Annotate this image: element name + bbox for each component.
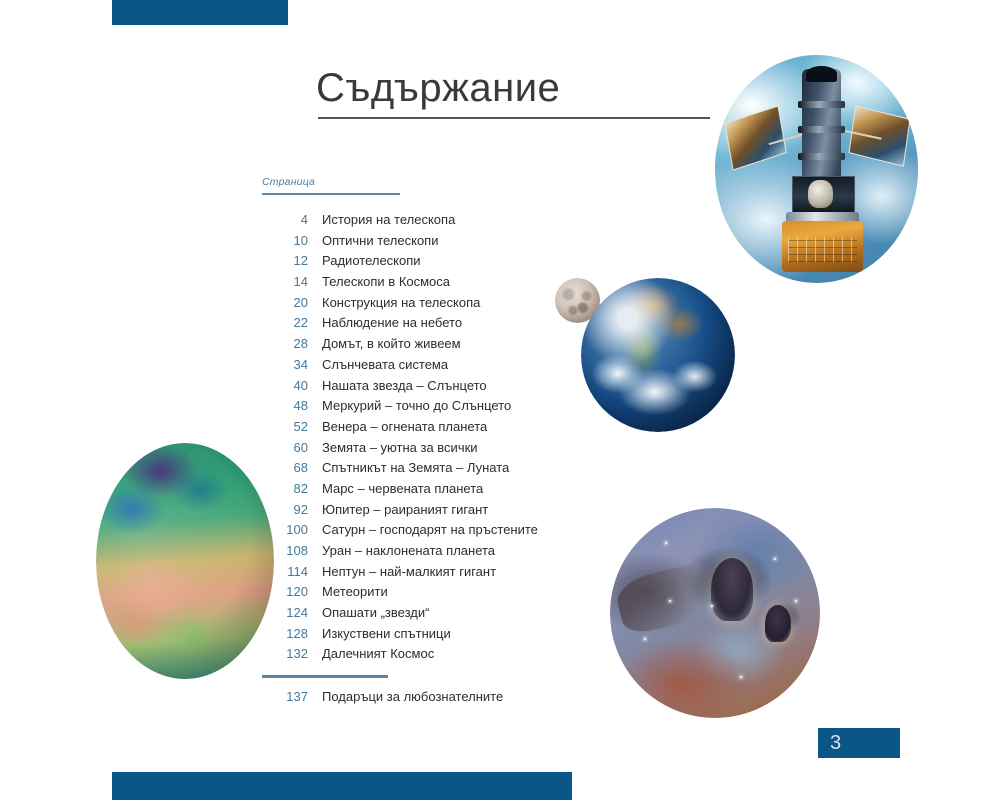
toc-entry-title: Телескопи в Космоса [322,274,450,289]
toc-entry-page: 108 [262,543,308,558]
toc-entry[interactable]: 28Домът, в който живеем [262,336,562,357]
toc-entry-title: Венера – огнената планета [322,419,487,434]
toc-entry-title: Нашата звезда – Слънцето [322,378,487,393]
title-underline-rule [318,117,710,119]
body-ring-1 [798,101,845,108]
page-column-underline [262,193,400,195]
contents-page: Съдържание Страница 4История на телескоп… [0,0,1000,800]
toc-entry-title: Земята – уютна за всички [322,440,478,455]
toc-entry-title: Уран – наклонената планета [322,543,495,558]
toc-entry[interactable]: 128Изкуствени спътници [262,626,562,647]
toc-entry-page: 10 [262,233,308,248]
toc-entry-page: 100 [262,522,308,537]
toc-entry-page: 14 [262,274,308,289]
toc-entry[interactable]: 82Марс – червената планета [262,481,562,502]
decorative-bar-top [112,0,288,25]
toc-entry-title: Слънчевата система [322,357,448,372]
toc-entry-title: История на телескопа [322,212,455,227]
astronaut [808,180,832,207]
toc-entry-page: 92 [262,502,308,517]
toc-entry-title: Наблюдение на небето [322,315,462,330]
toc-entry-page: 68 [262,460,308,475]
star-point [644,638,646,640]
toc-entry-title: Подаръци за любознателните [322,689,503,704]
star-point [711,605,713,607]
toc-entry[interactable]: 10Оптични телескопи [262,233,562,254]
toc-entry[interactable]: 12Радиотелескопи [262,253,562,274]
toc-entry[interactable]: 60Земята – уютна за всички [262,440,562,461]
venus-shading [96,443,274,679]
toc-entry[interactable]: 124Опашати „звезди“ [262,605,562,626]
earth-terminator-shading [581,278,735,432]
toc-entry-title: Нептун – най-малкият гигант [322,564,496,579]
hubble-space-telescope-photo [715,55,918,283]
toc-entry[interactable]: 22Наблюдение на небето [262,315,562,336]
decorative-bar-bottom [112,772,572,800]
page-number-text: 3 [830,732,841,755]
toc-entry-page: 132 [262,646,308,661]
table-of-contents-final-entry: 137Подаръци за любознателните [262,689,582,710]
toc-entry[interactable]: 100Сатурн – господарят на пръстените [262,522,562,543]
toc-entry-title: Оптични телескопи [322,233,438,248]
toc-entry-page: 124 [262,605,308,620]
toc-entry-page: 20 [262,295,308,310]
toc-entry[interactable]: 20Конструкция на телескопа [262,295,562,316]
earth-globe-photo [581,278,735,432]
nebula-dark-pillar [711,558,753,621]
telescope-aperture [806,66,836,82]
toc-entry-title: Домът, в който живеем [322,336,461,351]
toc-entry-page: 22 [262,315,308,330]
toc-entry-page: 120 [262,584,308,599]
toc-separator-rule [262,675,388,678]
toc-entry-page: 4 [262,212,308,227]
body-ring-2 [798,126,845,133]
toc-entry-page: 137 [262,689,308,704]
toc-entry-title: Изкуствени спътници [322,626,451,641]
table-of-contents-list: 4История на телескопа10Оптични телескопи… [262,212,562,667]
toc-entry[interactable]: 68Спътникът на Земята – Луната [262,460,562,481]
toc-entry[interactable]: 137Подаръци за любознателните [262,689,582,710]
toc-entry[interactable]: 92Юпитер – раираният гигант [262,502,562,523]
toc-entry[interactable]: 108Уран – наклонената планета [262,543,562,564]
toc-entry-title: Радиотелескопи [322,253,421,268]
toc-entry-title: Опашати „звезди“ [322,605,429,620]
toc-entry[interactable]: 132Далечният Космос [262,646,562,667]
page-column-label: Страница [262,176,315,188]
toc-entry-page: 52 [262,419,308,434]
toc-entry[interactable]: 34Слънчевата система [262,357,562,378]
star-point [665,542,667,544]
toc-entry-title: Конструкция на телескопа [322,295,480,310]
toc-entry-title: Марс – червената планета [322,481,483,496]
venus-radar-map-photo [96,443,274,679]
page-title: Съдържание [316,66,560,111]
toc-entry-title: Меркурий – точно до Слънцето [322,398,511,413]
toc-entry-page: 60 [262,440,308,455]
page-number-badge: 3 [818,728,900,758]
toc-entry-title: Далечният Космос [322,646,434,661]
toc-entry-title: Сатурн – господарят на пръстените [322,522,538,537]
toc-entry-page: 40 [262,378,308,393]
toc-entry-page: 28 [262,336,308,351]
toc-entry[interactable]: 40Нашата звезда – Слънцето [262,378,562,399]
toc-entry-page: 12 [262,253,308,268]
toc-entry-page: 48 [262,398,308,413]
toc-entry[interactable]: 114Нептун – най-малкият гигант [262,564,562,585]
toc-entry[interactable]: 14Телескопи в Космоса [262,274,562,295]
toc-entry-title: Метеорити [322,584,388,599]
toc-entry-page: 34 [262,357,308,372]
toc-entry-page: 82 [262,481,308,496]
payload-bay-grid [788,237,857,262]
toc-entry[interactable]: 4История на телескопа [262,212,562,233]
body-ring-3 [798,153,845,160]
toc-entry[interactable]: 48Меркурий – точно до Слънцето [262,398,562,419]
toc-entry-title: Спътникът на Земята – Луната [322,460,509,475]
toc-entry-title: Юпитер – раираният гигант [322,502,488,517]
toc-entry-page: 114 [262,564,308,579]
toc-entry-page: 128 [262,626,308,641]
nebula-photo [610,508,820,718]
nebula-dark-globule [765,605,790,643]
toc-entry[interactable]: 120Метеорити [262,584,562,605]
toc-entry[interactable]: 52Венера – огнената планета [262,419,562,440]
